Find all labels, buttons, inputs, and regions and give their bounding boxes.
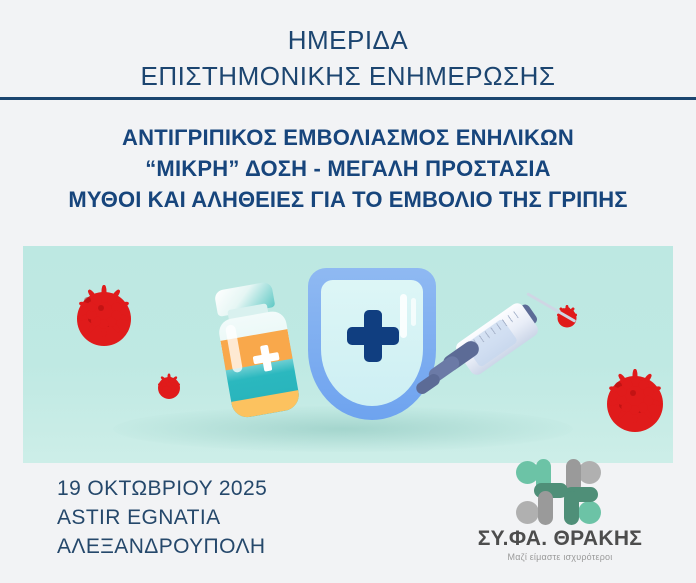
event-city: ΑΛΕΞΑΝΔΡΟΥΠΟΛΗ — [57, 532, 267, 561]
logo-arm-bottom-left — [538, 491, 553, 525]
logo-name-text: ΣΥ.ΦΑ. ΘΡΑΚΗΣ — [470, 527, 650, 551]
logo-circle-bottom-left — [516, 501, 539, 524]
event-info: 19 ΟΚΤΩΒΡΙΟΥ 2025 ASTIR EGNATIA ΑΛΕΞΑΝΔΡ… — [57, 474, 267, 561]
title-block: ΑΝΤΙΓΡΙΠΙΚΟΣ ΕΜΒΟΛΙΑΣΜΟΣ ΕΝΗΛΙΚΩΝ “ΜΙΚΡΗ… — [0, 122, 696, 215]
protection-shield-icon — [308, 268, 436, 420]
organization-logo: ΣΥ.ΦΑ. ΘΡΑΚΗΣ Μαζί είμαστε ισχυρότεροι — [470, 457, 650, 575]
virus-icon-large-left — [66, 281, 142, 357]
logo-circle-bottom-right — [578, 501, 601, 524]
poster-header: ΗΜΕΡΙΔΑ ΕΠΙΣΤΗΜΟΝΙΚΗΣ ΕΝΗΜΕΡΩΣΗΣ — [0, 0, 696, 98]
logo-mark-icon — [512, 457, 608, 529]
title-line-1: ΑΝΤΙΓΡΙΠΙΚΟΣ ΕΜΒΟΛΙΑΣΜΟΣ ΕΝΗΛΙΚΩΝ — [0, 122, 696, 153]
logo-tagline-text: Μαζί είμαστε ισχυρότεροι — [470, 552, 650, 562]
title-line-2: “ΜΙΚΡΗ” ΔΟΣΗ - ΜΕΓΑΛΗ ΠΡΟΣΤΑΣΙΑ — [0, 153, 696, 184]
logo-arm-bottom-right — [564, 491, 579, 525]
vaccine-illustration — [23, 246, 673, 463]
event-date: 19 ΟΚΤΩΒΡΙΟΥ 2025 — [57, 474, 267, 503]
medical-cross-icon — [347, 310, 399, 362]
header-divider — [0, 97, 696, 100]
syringe-icon — [435, 286, 595, 426]
vial-cross-icon — [251, 343, 281, 373]
event-venue: ASTIR EGNATIA — [57, 503, 267, 532]
header-line-2: ΕΠΙΣΤΗΜΟΝΙΚΗΣ ΕΝΗΜΕΡΩΣΗΣ — [0, 58, 696, 94]
syringe-barrel — [453, 300, 540, 377]
title-line-3: ΜΥΘΟΙ ΚΑΙ ΑΛΗΘΕΙΕΣ ΓΙΑ ΤΟ ΕΜΒΟΛΙΟ ΤΗΣ ΓΡ… — [0, 184, 696, 215]
vaccine-vial-icon — [208, 278, 314, 427]
header-line-1: ΗΜΕΡΙΔΑ — [0, 22, 696, 58]
poster: ΗΜΕΡΙΔΑ ΕΠΙΣΤΗΜΟΝΙΚΗΣ ΕΝΗΜΕΡΩΣΗΣ ΑΝΤΙΓΡΙ… — [0, 0, 696, 583]
virus-icon-large-right — [595, 364, 673, 444]
shield-highlight-2 — [411, 298, 416, 326]
virus-icon-small-left — [153, 372, 185, 404]
vial-label-lower — [231, 390, 301, 420]
logo-circle-top-right — [578, 461, 601, 484]
shield-highlight-1 — [400, 294, 407, 338]
